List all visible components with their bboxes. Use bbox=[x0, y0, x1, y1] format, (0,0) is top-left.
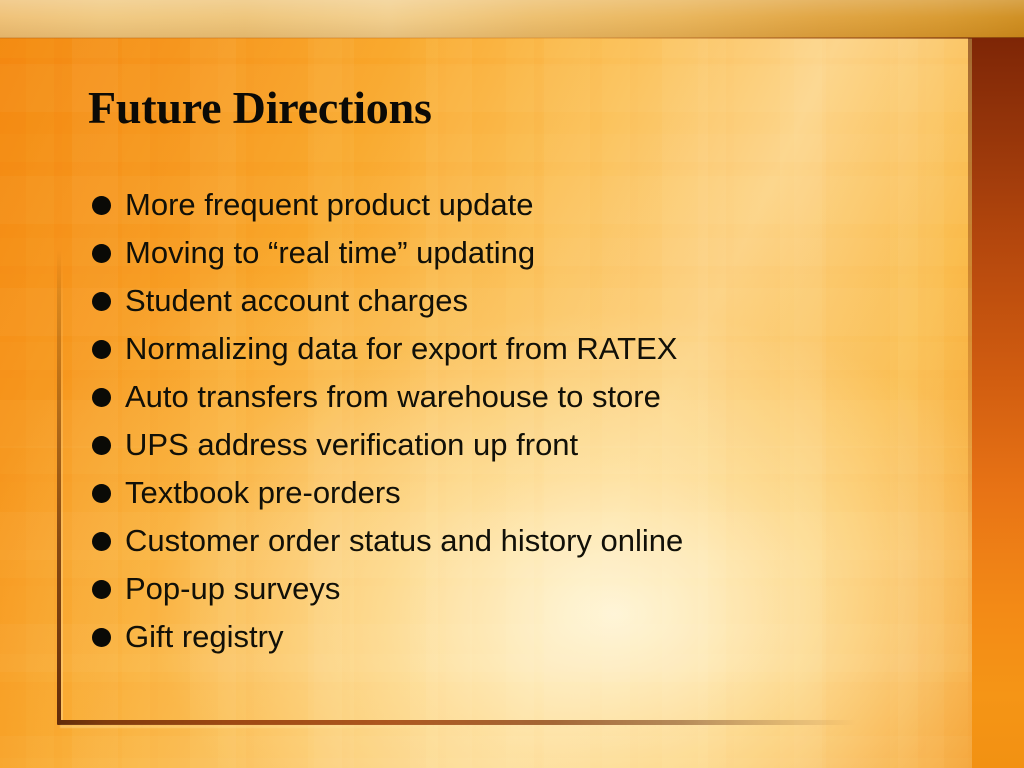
list-item: Gift registry bbox=[88, 613, 968, 661]
list-item-label: UPS address verification up front bbox=[125, 421, 578, 469]
list-item: Student account charges bbox=[88, 277, 968, 325]
list-item-label: Moving to “real time” updating bbox=[125, 229, 535, 277]
slide-title: Future Directions bbox=[88, 80, 432, 136]
list-item-label: Student account charges bbox=[125, 277, 468, 325]
list-item: More frequent product update bbox=[88, 181, 968, 229]
list-item: UPS address verification up front bbox=[88, 421, 968, 469]
list-item: Auto transfers from warehouse to store bbox=[88, 373, 968, 421]
list-item-label: Customer order status and history online bbox=[125, 517, 683, 565]
filled-round-bullet-icon bbox=[92, 244, 111, 263]
filled-round-bullet-icon bbox=[92, 388, 111, 407]
filled-round-bullet-icon bbox=[92, 532, 111, 551]
list-item: Textbook pre-orders bbox=[88, 469, 968, 517]
filled-round-bullet-icon bbox=[92, 484, 111, 503]
list-item-label: Gift registry bbox=[125, 613, 283, 661]
list-item-label: Textbook pre-orders bbox=[125, 469, 401, 517]
slide-content: Future Directions More frequent product … bbox=[0, 0, 1024, 768]
filled-round-bullet-icon bbox=[92, 340, 111, 359]
filled-round-bullet-icon bbox=[92, 196, 111, 215]
list-item-label: Pop-up surveys bbox=[125, 565, 340, 613]
filled-round-bullet-icon bbox=[92, 436, 111, 455]
bullet-list: More frequent product update Moving to “… bbox=[88, 181, 968, 661]
filled-round-bullet-icon bbox=[92, 580, 111, 599]
list-item: Normalizing data for export from RATEX bbox=[88, 325, 968, 373]
list-item-label: Auto transfers from warehouse to store bbox=[125, 373, 661, 421]
presentation-slide: Future Directions More frequent product … bbox=[0, 0, 1024, 768]
list-item-label: Normalizing data for export from RATEX bbox=[125, 325, 677, 373]
list-item-label: More frequent product update bbox=[125, 181, 533, 229]
filled-round-bullet-icon bbox=[92, 628, 111, 647]
filled-round-bullet-icon bbox=[92, 292, 111, 311]
list-item: Pop-up surveys bbox=[88, 565, 968, 613]
list-item: Customer order status and history online bbox=[88, 517, 968, 565]
list-item: Moving to “real time” updating bbox=[88, 229, 968, 277]
